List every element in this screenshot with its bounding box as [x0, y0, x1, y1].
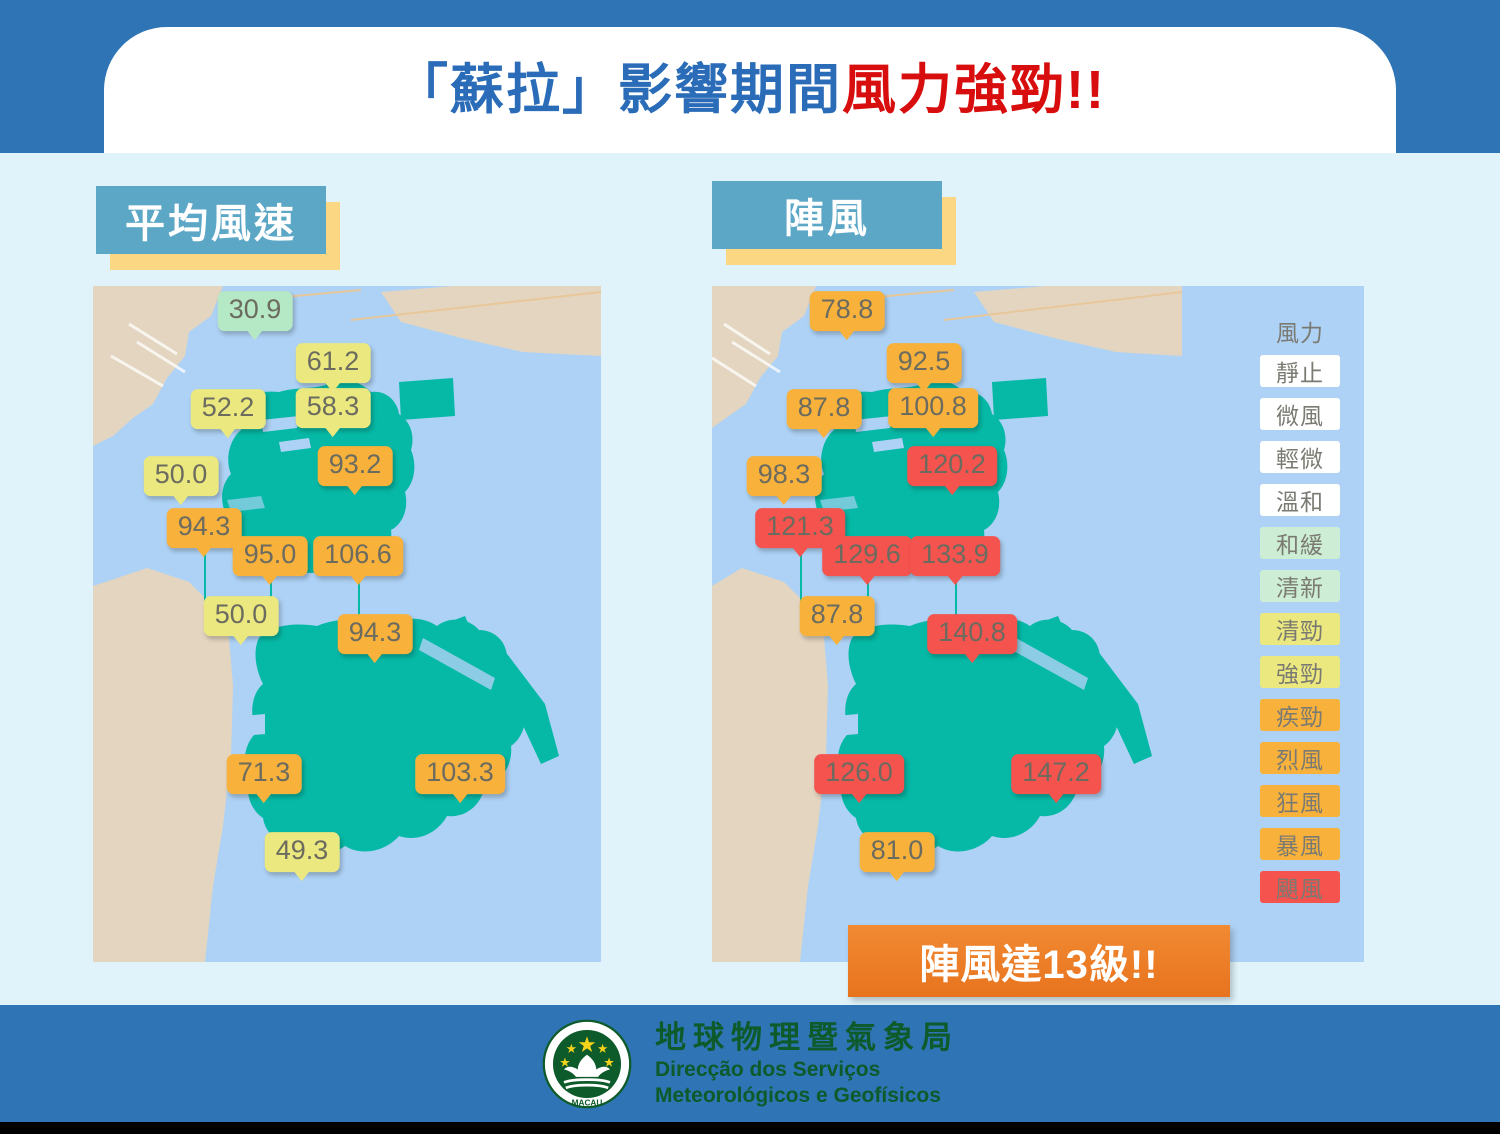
map-average-wind: 30.961.252.258.393.250.094.395.0106.650.…	[93, 286, 601, 962]
macau-smg-emblem-icon: MACAU	[541, 1018, 633, 1110]
legend-item-label: 靜止	[1276, 354, 1324, 388]
wind-value-text: 94.3	[349, 617, 402, 649]
wind-value-chip: 95.0	[233, 536, 308, 576]
wind-value-chip: 106.6	[313, 536, 403, 576]
footer-agency-pt-line1: Direcção dos Serviços	[655, 1057, 959, 1083]
wind-value-chip: 147.2	[1011, 754, 1101, 794]
wind-force-legend: 風力 靜止微風輕微溫和和緩清新清勁強勁疾勁烈風狂風暴風颶風	[1258, 314, 1342, 914]
legend-item-label: 強勁	[1276, 655, 1324, 689]
legend-item: 烈風	[1260, 742, 1340, 774]
wind-value-text: 81.0	[871, 835, 924, 867]
wind-value-text: 78.8	[821, 294, 874, 326]
wind-value-chip: 50.0	[204, 596, 279, 636]
legend-item: 和緩	[1260, 527, 1340, 559]
bottom-strip	[0, 1122, 1500, 1134]
wind-value-text: 71.3	[238, 757, 291, 789]
wind-value-chip: 94.3	[167, 508, 242, 548]
wind-value-chip: 133.9	[910, 536, 1000, 576]
wind-value-text: 133.9	[921, 539, 989, 571]
legend-item: 靜止	[1260, 355, 1340, 387]
wind-value-chip: 126.0	[814, 754, 904, 794]
gust-level-banner: 陣風達13級!!	[848, 925, 1230, 997]
wind-value-text: 92.5	[898, 346, 951, 378]
wind-value-text: 93.2	[329, 449, 382, 481]
wind-value-text: 140.8	[938, 617, 1006, 649]
wind-value-text: 98.3	[758, 459, 811, 491]
wind-value-text: 50.0	[155, 459, 208, 491]
footer: MACAU 地球物理暨氣象局 Direcção dos Serviços Met…	[0, 1005, 1500, 1122]
wind-value-text: 61.2	[307, 346, 360, 378]
legend-item: 強勁	[1260, 656, 1340, 688]
wind-value-chip: 98.3	[747, 456, 822, 496]
wind-value-chip: 58.3	[296, 388, 371, 428]
top-band: 「蘇拉」影響期間風力強勁!!	[0, 0, 1500, 153]
legend-item-label: 狂風	[1276, 784, 1324, 818]
legend-title: 風力	[1276, 314, 1324, 348]
legend-item-label: 微風	[1276, 397, 1324, 431]
legend-item-label: 颶風	[1276, 870, 1324, 904]
legend-item: 輕微	[1260, 441, 1340, 473]
wind-value-text: 87.8	[798, 392, 851, 424]
legend-item-list: 靜止微風輕微溫和和緩清新清勁強勁疾勁烈風狂風暴風颶風	[1260, 355, 1340, 914]
wind-value-chip: 93.2	[318, 446, 393, 486]
wind-value-text: 129.6	[833, 539, 901, 571]
wind-value-chip: 71.3	[227, 754, 302, 794]
page-title-primary: 「蘇拉」影響期間	[394, 60, 842, 120]
wind-value-text: 30.9	[229, 294, 282, 326]
wind-value-text: 126.0	[825, 757, 893, 789]
wind-value-chip: 49.3	[265, 832, 340, 872]
wind-value-text: 147.2	[1022, 757, 1090, 789]
page-title-highlight: 風力強勁!!	[842, 60, 1106, 120]
wind-value-text: 50.0	[215, 599, 268, 631]
legend-item-label: 疾勁	[1276, 698, 1324, 732]
wind-value-text: 49.3	[276, 835, 329, 867]
infographic-page: 「蘇拉」影響期間風力強勁!! 平均風速 陣風	[0, 0, 1500, 1134]
legend-item-label: 清新	[1276, 569, 1324, 603]
section-header-gust: 陣風	[712, 181, 942, 249]
wind-value-text: 120.2	[918, 449, 986, 481]
legend-item-label: 烈風	[1276, 741, 1324, 775]
legend-item: 清新	[1260, 570, 1340, 602]
legend-item: 颶風	[1260, 871, 1340, 903]
page-title: 「蘇拉」影響期間風力強勁!!	[394, 63, 1106, 117]
map-gust: 78.892.587.8100.8120.298.3121.3129.6133.…	[712, 286, 1364, 962]
wind-value-chip: 103.3	[415, 754, 505, 794]
wind-value-text: 52.2	[202, 392, 255, 424]
wind-value-chip: 30.9	[218, 291, 293, 331]
footer-text: 地球物理暨氣象局 Direcção dos Serviços Meteoroló…	[655, 1019, 959, 1109]
emblem-caption: MACAU	[572, 1098, 603, 1107]
legend-item: 微風	[1260, 398, 1340, 430]
title-pill: 「蘇拉」影響期間風力強勁!!	[104, 27, 1396, 153]
wind-value-text: 94.3	[178, 511, 231, 543]
legend-item-label: 輕微	[1276, 440, 1324, 474]
legend-item-label: 清勁	[1276, 612, 1324, 646]
wind-value-chip: 87.8	[787, 389, 862, 429]
legend-item: 疾勁	[1260, 699, 1340, 731]
wind-value-text: 103.3	[426, 757, 494, 789]
wind-value-chip: 78.8	[810, 291, 885, 331]
wind-value-chip: 120.2	[907, 446, 997, 486]
footer-agency-pt-line2: Meteorológicos e Geofísicos	[655, 1083, 959, 1109]
wind-value-chip: 52.2	[191, 389, 266, 429]
wind-value-chip: 94.3	[338, 614, 413, 654]
legend-item-label: 和緩	[1276, 526, 1324, 560]
section-header-average-wind: 平均風速	[96, 186, 326, 254]
wind-value-text: 95.0	[244, 539, 297, 571]
wind-value-text: 100.8	[899, 391, 967, 423]
wind-value-chip: 87.8	[800, 596, 875, 636]
tab-label-gust: 陣風	[712, 181, 942, 249]
legend-item-label: 暴風	[1276, 827, 1324, 861]
legend-item: 暴風	[1260, 828, 1340, 860]
wind-value-chip: 129.6	[822, 536, 912, 576]
wind-value-chip: 50.0	[144, 456, 219, 496]
wind-value-text: 58.3	[307, 391, 360, 423]
wind-value-text: 106.6	[324, 539, 392, 571]
wind-value-chip: 140.8	[927, 614, 1017, 654]
legend-item: 清勁	[1260, 613, 1340, 645]
legend-item: 溫和	[1260, 484, 1340, 516]
wind-value-text: 87.8	[811, 599, 864, 631]
wind-value-chip: 100.8	[888, 388, 978, 428]
wind-value-chip: 92.5	[887, 343, 962, 383]
footer-agency-cn: 地球物理暨氣象局	[655, 1019, 959, 1058]
legend-item: 狂風	[1260, 785, 1340, 817]
wind-value-chip: 81.0	[860, 832, 935, 872]
wind-value-chip: 61.2	[296, 343, 371, 383]
legend-item-label: 溫和	[1276, 483, 1324, 517]
tab-label-average-wind: 平均風速	[96, 186, 326, 254]
